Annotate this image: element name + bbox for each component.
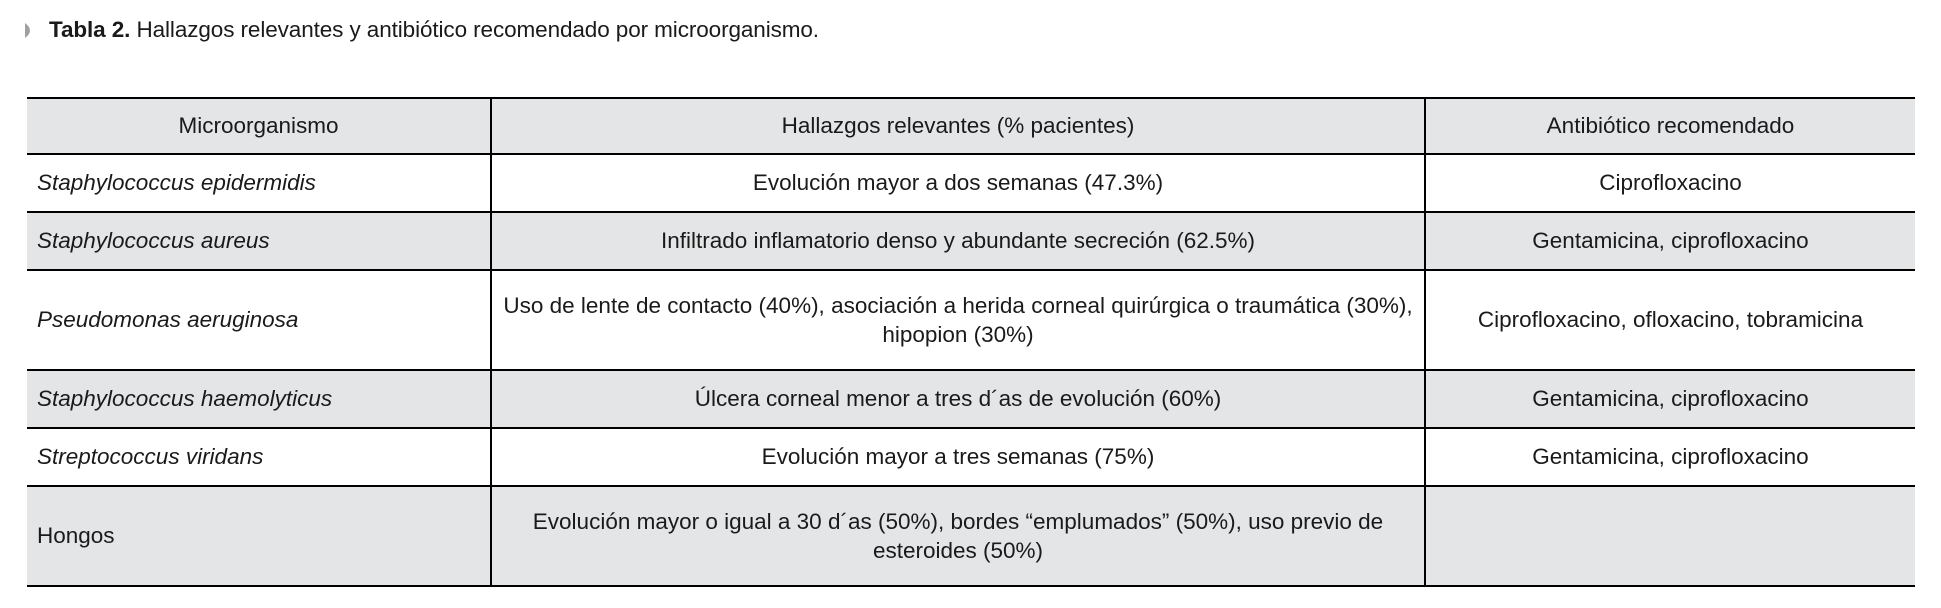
cell-organism: Staphylococcus haemolyticus	[27, 370, 491, 428]
table-row: Staphylococcus haemolyticus Úlcera corne…	[27, 370, 1915, 428]
table-body: Staphylococcus epidermidis Evolución may…	[27, 154, 1915, 586]
table-container: Microorganismo Hallazgos relevantes (% p…	[27, 97, 1915, 587]
cell-findings: Evolución mayor a tres semanas (75%)	[491, 428, 1425, 486]
cell-antibiotic: Gentamicina, ciprofloxacino	[1425, 370, 1915, 428]
cell-organism: Hongos	[27, 486, 491, 586]
column-header-hallazgos: Hallazgos relevantes (% pacientes)	[491, 98, 1425, 154]
cell-findings: Evolución mayor o igual a 30 d´as (50%),…	[491, 486, 1425, 586]
table-row: Staphylococcus aureus Infiltrado inflama…	[27, 212, 1915, 270]
header-row: Microorganismo Hallazgos relevantes (% p…	[27, 98, 1915, 154]
cell-antibiotic	[1425, 486, 1915, 586]
caption-label: Tabla 2.	[49, 17, 130, 42]
cell-antibiotic: Ciprofloxacino	[1425, 154, 1915, 212]
findings-table: Microorganismo Hallazgos relevantes (% p…	[27, 97, 1915, 587]
table-row: Staphylococcus epidermidis Evolución may…	[27, 154, 1915, 212]
cell-findings: Uso de lente de contacto (40%), asociaci…	[491, 270, 1425, 370]
triangle-right-icon	[24, 22, 37, 39]
cell-antibiotic: Gentamicina, ciprofloxacino	[1425, 212, 1915, 270]
table-caption: Tabla 2. Hallazgos relevantes y antibiót…	[24, 16, 819, 43]
caption-description: Hallazgos relevantes y antibiótico recom…	[130, 17, 819, 42]
cell-organism: Pseudomonas aeruginosa	[27, 270, 491, 370]
cell-findings: Infiltrado inflamatorio denso y abundant…	[491, 212, 1425, 270]
table-row: Hongos Evolución mayor o igual a 30 d´as…	[27, 486, 1915, 586]
cell-organism: Staphylococcus epidermidis	[27, 154, 491, 212]
cell-findings: Evolución mayor a dos semanas (47.3%)	[491, 154, 1425, 212]
caption-text: Tabla 2. Hallazgos relevantes y antibiót…	[49, 16, 819, 43]
table-row: Pseudomonas aeruginosa Uso de lente de c…	[27, 270, 1915, 370]
column-header-antibiotico: Antibiótico recomendado	[1425, 98, 1915, 154]
cell-antibiotic: Gentamicina, ciprofloxacino	[1425, 428, 1915, 486]
cell-organism: Staphylococcus aureus	[27, 212, 491, 270]
table-header: Microorganismo Hallazgos relevantes (% p…	[27, 98, 1915, 154]
column-header-microorganismo: Microorganismo	[27, 98, 491, 154]
cell-antibiotic: Ciprofloxacino, ofloxacino, tobramicina	[1425, 270, 1915, 370]
cell-organism: Streptococcus viridans	[27, 428, 491, 486]
cell-findings: Úlcera corneal menor a tres d´as de evol…	[491, 370, 1425, 428]
table-row: Streptococcus viridans Evolución mayor a…	[27, 428, 1915, 486]
